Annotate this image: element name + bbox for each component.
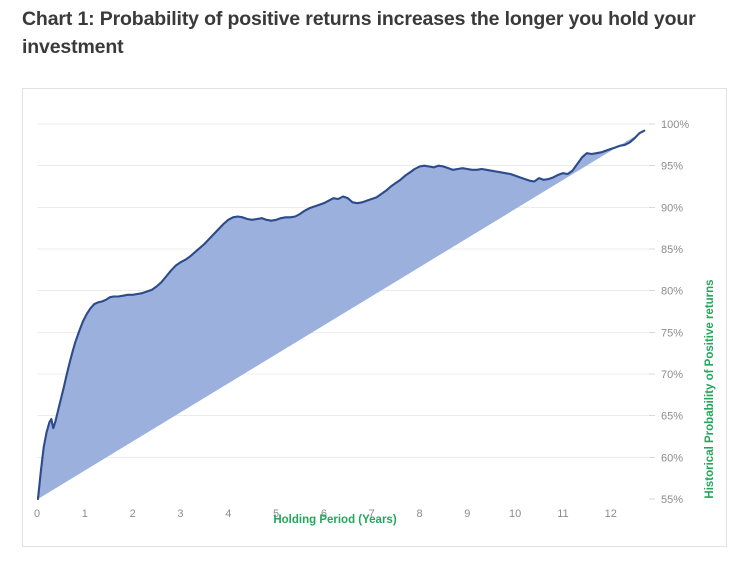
x-axis-title: Holding Period (Years) bbox=[273, 514, 396, 526]
y-tick-label: 85% bbox=[661, 244, 683, 256]
y-tick-label: 100% bbox=[661, 119, 689, 131]
x-tick-label: 12 bbox=[605, 508, 617, 520]
x-tick-label: 8 bbox=[416, 508, 422, 520]
y-tick-label: 90% bbox=[661, 202, 683, 214]
y-axis-title: Historical Probability of Positive retur… bbox=[704, 279, 716, 498]
axis-tickmarks bbox=[649, 124, 655, 499]
x-tick-label: 4 bbox=[225, 508, 231, 520]
y-tick-label: 75% bbox=[661, 327, 683, 339]
probability-area-chart: 55%60%65%70%75%80%85%90%95%100% 01234567… bbox=[23, 89, 728, 548]
y-axis-tick-labels: 55%60%65%70%75%80%85%90%95%100% bbox=[661, 119, 689, 506]
x-tick-label: 1 bbox=[82, 508, 88, 520]
series-area-fill bbox=[38, 131, 644, 499]
x-tick-label: 0 bbox=[34, 508, 40, 520]
x-tick-label: 2 bbox=[130, 508, 136, 520]
x-tick-label: 3 bbox=[177, 508, 183, 520]
y-tick-label: 55% bbox=[661, 494, 683, 506]
page-title: Chart 1: Probability of positive returns… bbox=[22, 6, 722, 61]
chart-card: 55%60%65%70%75%80%85%90%95%100% 01234567… bbox=[22, 88, 727, 547]
x-tick-label: 9 bbox=[464, 508, 470, 520]
x-tick-label: 10 bbox=[509, 508, 521, 520]
y-tick-label: 70% bbox=[661, 369, 683, 381]
y-tick-label: 95% bbox=[661, 161, 683, 173]
y-tick-label: 65% bbox=[661, 411, 683, 423]
x-tick-label: 11 bbox=[557, 508, 568, 520]
y-tick-label: 80% bbox=[661, 286, 683, 298]
y-tick-label: 60% bbox=[661, 452, 683, 464]
